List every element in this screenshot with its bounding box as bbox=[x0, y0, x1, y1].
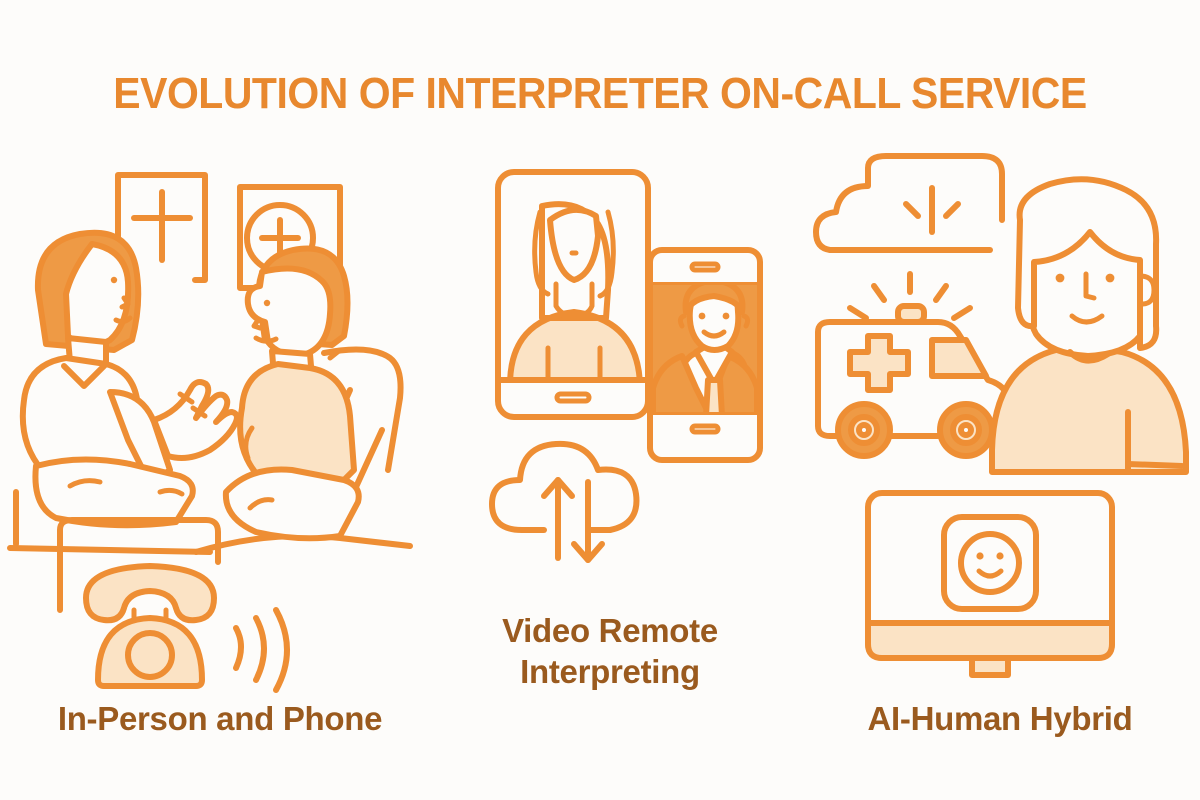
stage-caption-line-2: Interpreting bbox=[440, 651, 780, 692]
stage-caption-line-1: Video Remote bbox=[440, 610, 780, 651]
two-video-call-screens-and-cloud-illustration bbox=[470, 140, 790, 590]
tablet-screen-woman-icon bbox=[498, 172, 648, 417]
sound-waves-icon bbox=[236, 610, 287, 690]
patient-man-in-bed-figure bbox=[226, 248, 359, 538]
stage-caption-ai-human-hybrid: AI-Human Hybrid bbox=[800, 698, 1200, 739]
woman-responder-figure bbox=[992, 179, 1186, 472]
stage-video-remote-interpreting: Video Remote Interpreting bbox=[440, 140, 780, 760]
rotary-telephone-icon bbox=[86, 566, 214, 686]
infographic-canvas: EVOLUTION OF INTERPRETER ON-CALL SERVICE bbox=[0, 0, 1200, 800]
ambulance-cloud-woman-illustration bbox=[810, 140, 1200, 490]
smartphone-screen-businessman-icon bbox=[650, 250, 760, 460]
desktop-monitor-icon bbox=[868, 493, 1112, 675]
stage-in-person-and-phone: In-Person and Phone bbox=[10, 140, 430, 760]
stage-ai-human-hybrid: AI-Human Hybrid bbox=[800, 140, 1200, 760]
stage-caption-in-person-and-phone: In-Person and Phone bbox=[10, 698, 430, 739]
desktop-monitor-with-ai-avatar bbox=[860, 485, 1130, 675]
ambulance-icon bbox=[818, 306, 1010, 456]
cloud-sync-up-down-arrows-icon bbox=[492, 444, 636, 560]
stage-caption-video-remote-interpreting: Video Remote Interpreting bbox=[440, 610, 780, 692]
rotary-telephone-with-sound-waves bbox=[50, 500, 350, 700]
page-title: EVOLUTION OF INTERPRETER ON-CALL SERVICE bbox=[42, 67, 1158, 121]
cloud-signal-icon bbox=[816, 156, 1002, 250]
